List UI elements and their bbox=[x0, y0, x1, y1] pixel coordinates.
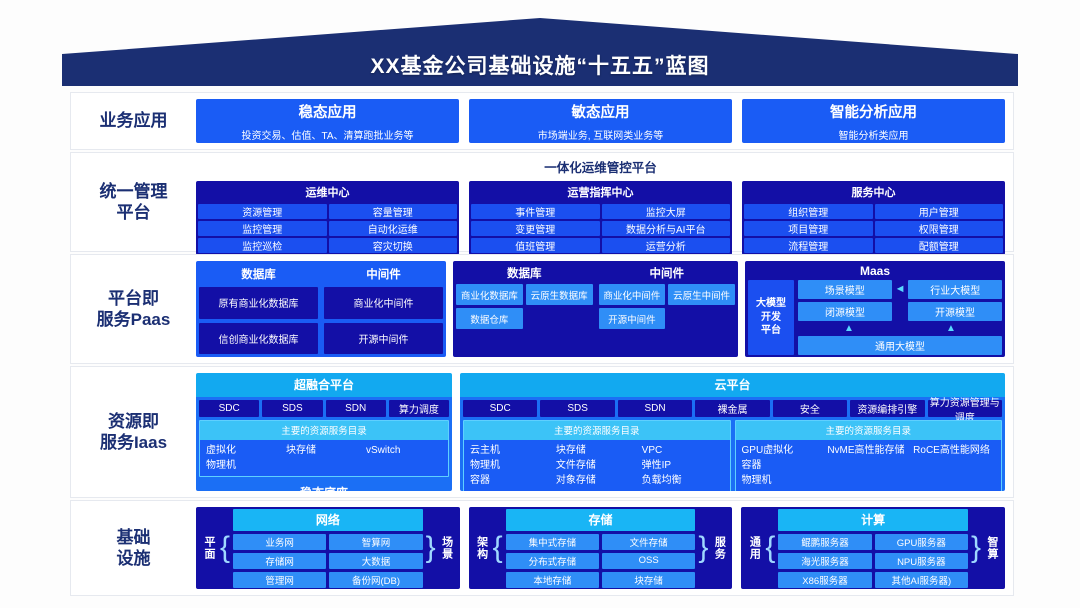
paas-database-group: 数据库 商业化数据库 云原生数据库 数据仓库 bbox=[456, 264, 593, 354]
infra-item[interactable]: 文件存储 bbox=[602, 534, 695, 550]
infra-storage-block: 架构 { 存储 集中式存储 文件存储 分布式存储 OSS 本地存储 块存储 } … bbox=[469, 507, 733, 589]
row-label-unified-management: 统一管理 平台 bbox=[71, 153, 196, 251]
catalog-item: 虚拟化 bbox=[206, 444, 282, 457]
center-item[interactable]: 变更管理 bbox=[471, 221, 600, 236]
infra-item[interactable]: NPU服务器 bbox=[875, 553, 968, 569]
cloud-platform-tags: SDC SDS SDN 裸金属 安全 资源编排引擎 算力资源管理与调度 bbox=[460, 397, 1005, 420]
up-arrow-icon: ▲ bbox=[798, 324, 900, 333]
infra-item[interactable]: 备份网(DB) bbox=[329, 572, 422, 588]
left-arrow-icon: ◄ bbox=[895, 284, 906, 295]
catalog-body: 虚拟化 物理机 块存储 vSwitch bbox=[200, 440, 448, 476]
catalog-header: 主要的资源服务目录 bbox=[200, 421, 448, 440]
paas-item[interactable]: 商业化数据库 bbox=[456, 284, 523, 305]
infra-item[interactable]: 集中式存储 bbox=[506, 534, 599, 550]
catalog-item: VPC bbox=[642, 444, 724, 457]
center-items: 事件管理 监控大屏 变更管理 数据分析与AI平台 值班管理 运营分析 bbox=[471, 204, 730, 253]
maas-title: Maas bbox=[748, 264, 1002, 278]
row-body-unified-management: 一体化运维管控平台 运维中心 资源管理 容量管理 监控管理 自动化运维 监控巡检… bbox=[196, 153, 1013, 251]
infra-items: 业务网 智算网 存储网 大数据 管理网 备份网(DB) bbox=[233, 534, 423, 588]
iaas-tag[interactable]: SDS bbox=[540, 400, 614, 417]
center-title: 运维中心 bbox=[198, 183, 457, 202]
center-item[interactable]: 资源管理 bbox=[198, 204, 327, 219]
catalog-item: 块存储 bbox=[556, 444, 638, 457]
center-item[interactable]: 项目管理 bbox=[744, 221, 873, 236]
catalog-item: 对象存储 bbox=[556, 474, 638, 487]
iaas-tag[interactable]: 算力调度 bbox=[389, 400, 449, 417]
center-items: 资源管理 容量管理 监控管理 自动化运维 监控巡检 容灾切换 bbox=[198, 204, 457, 253]
infra-left-label: 平面 bbox=[201, 536, 217, 560]
maas-body: 大模型 开发 平台 场景模型 ◄ 行业大模型 闭源模型 开源模型 bbox=[748, 280, 1002, 355]
management-centers: 运维中心 资源管理 容量管理 监控管理 自动化运维 监控巡检 容灾切换 运营指挥… bbox=[196, 181, 1005, 255]
paas-item[interactable]: 开源中间件 bbox=[599, 308, 666, 329]
cloud-platform-catalogs: 主要的资源服务目录 云主机 物理机 容器 块存储 文件存储 对象存储 bbox=[460, 420, 1005, 491]
catalog-item: 云主机 bbox=[470, 444, 552, 457]
maas-row-scenario: 场景模型 ◄ 行业大模型 bbox=[798, 280, 1002, 299]
row-body-paas: 数据库 原有商业化数据库 信创商业化数据库 中间件 商业化中间件 开源中间件 数… bbox=[196, 255, 1013, 363]
center-item[interactable]: 流程管理 bbox=[744, 238, 873, 253]
page-title: XX基金公司基础设施“十五五”蓝图 bbox=[0, 50, 1080, 80]
app-card-intelligent-analytics[interactable]: 智能分析应用 智能分析类应用 bbox=[742, 99, 1005, 143]
integrated-ops-platform-title: 一体化运维管控平台 bbox=[196, 156, 1005, 178]
catalog-item: 文件存储 bbox=[556, 459, 638, 472]
maas-item[interactable]: 闭源模型 bbox=[798, 302, 892, 321]
paas-item[interactable]: 商业化中间件 bbox=[324, 287, 443, 319]
maas-row-source: 闭源模型 开源模型 bbox=[798, 302, 1002, 321]
hyperconverged-platform-block: 超融合平台 SDC SDS SDN 算力调度 主要的资源服务目录 虚拟化 物理机 bbox=[196, 373, 452, 491]
row-body-iaas: 超融合平台 SDC SDS SDN 算力调度 主要的资源服务目录 虚拟化 物理机 bbox=[196, 367, 1013, 497]
paas-column-title: 数据库 bbox=[199, 264, 318, 283]
hyperconverged-header: 超融合平台 bbox=[196, 373, 452, 397]
app-card-subtitle: 投资交易、估值、TA、清算跑批业务等 bbox=[241, 127, 413, 142]
cloud-platform-block: 云平台 SDC SDS SDN 裸金属 安全 资源编排引擎 算力资源管理与调度 … bbox=[460, 373, 1005, 491]
infra-header: 计算 bbox=[778, 509, 968, 531]
center-item[interactable]: 数据分析与AI平台 bbox=[602, 221, 731, 236]
infra-items: 鲲鹏服务器 GPU服务器 海光服务器 NPU服务器 X86服务器 其他AI服务器… bbox=[778, 534, 968, 588]
iaas-tag[interactable]: 资源编排引擎 bbox=[850, 400, 924, 417]
iaas-tag[interactable]: 算力资源管理与调度 bbox=[928, 400, 1002, 417]
infra-items: 集中式存储 文件存储 分布式存储 OSS 本地存储 块存储 bbox=[506, 534, 696, 588]
infra-item[interactable]: GPU服务器 bbox=[875, 534, 968, 550]
app-card-subtitle: 智能分析类应用 bbox=[839, 127, 909, 142]
paas-cloudnative-block: 数据库 商业化数据库 云原生数据库 数据仓库 中间件 商业化中间件 云原生中间件… bbox=[453, 261, 738, 357]
maas-base-model[interactable]: 通用大模型 bbox=[798, 336, 1002, 355]
catalog-body: 云主机 物理机 容器 块存储 文件存储 对象存储 VPC bbox=[464, 440, 730, 491]
catalog-column: NvME高性能存储 bbox=[827, 444, 909, 487]
row-body-business-applications: 稳态应用 投资交易、估值、TA、清算跑批业务等 敏态应用 市场端业务, 互联网类… bbox=[196, 93, 1013, 149]
infra-left-label: 架构 bbox=[474, 536, 490, 560]
catalog-column: VPC 弹性IP 负载均衡 bbox=[642, 444, 724, 487]
left-brace-icon: { bbox=[492, 533, 504, 563]
infra-item[interactable]: 业务网 bbox=[233, 534, 326, 550]
catalog-item: 块存储 bbox=[286, 444, 362, 457]
paas-legacy-block: 数据库 原有商业化数据库 信创商业化数据库 中间件 商业化中间件 开源中间件 bbox=[196, 261, 446, 357]
paas-item[interactable]: 原有商业化数据库 bbox=[199, 287, 318, 319]
paas-middleware-column: 中间件 商业化中间件 开源中间件 bbox=[324, 264, 443, 354]
infra-item[interactable]: 大数据 bbox=[329, 553, 422, 569]
row-infrastructure: 基础 设施 平面 { 网络 业务网 智算网 存储网 大数据 管理网 备份网(DB… bbox=[70, 500, 1014, 596]
paas-item[interactable]: 开源中间件 bbox=[324, 323, 443, 355]
app-card-title: 稳态应用 bbox=[299, 101, 357, 122]
center-item[interactable]: 容灾切换 bbox=[329, 238, 458, 253]
catalog-item: 物理机 bbox=[742, 474, 824, 487]
iaas-tag[interactable]: 安全 bbox=[773, 400, 847, 417]
paas-group-title: 中间件 bbox=[599, 264, 736, 281]
maas-model-grid: 场景模型 ◄ 行业大模型 闭源模型 开源模型 ▲ ▲ bbox=[798, 280, 1002, 355]
infra-item[interactable]: 其他AI服务器) bbox=[875, 572, 968, 588]
infra-item[interactable]: OSS bbox=[602, 553, 695, 569]
catalog-column: GPU虚拟化 容器 物理机 bbox=[742, 444, 824, 487]
right-brace-icon: } bbox=[425, 533, 437, 563]
center-ops[interactable]: 运维中心 资源管理 容量管理 监控管理 自动化运维 监控巡检 容灾切换 bbox=[196, 181, 459, 255]
catalog-item: 物理机 bbox=[206, 459, 282, 472]
infra-item[interactable]: 本地存储 bbox=[506, 572, 599, 588]
hyperconverged-catalogs: 主要的资源服务目录 虚拟化 物理机 块存储 vSwitch bbox=[196, 420, 452, 480]
catalog-item: vSwitch bbox=[366, 444, 442, 457]
blueprint-diagram: XX基金公司基础设施“十五五”蓝图 业务应用 稳态应用 投资交易、估值、TA、清… bbox=[0, 0, 1080, 608]
row-unified-management: 统一管理 平台 一体化运维管控平台 运维中心 资源管理 容量管理 监控管理 自动… bbox=[70, 152, 1014, 252]
maas-up-arrows: ▲ ▲ bbox=[798, 324, 1002, 333]
cloud-platform-header: 云平台 bbox=[460, 373, 1005, 397]
catalog-header: 主要的资源服务目录 bbox=[736, 421, 1002, 440]
row-body-infrastructure: 平面 { 网络 业务网 智算网 存储网 大数据 管理网 备份网(DB) } 场景 bbox=[196, 501, 1013, 595]
app-card-stable[interactable]: 稳态应用 投资交易、估值、TA、清算跑批业务等 bbox=[196, 99, 459, 143]
left-brace-icon: { bbox=[219, 533, 231, 563]
maas-item[interactable]: 场景模型 bbox=[798, 280, 892, 299]
center-title: 服务中心 bbox=[744, 183, 1003, 202]
ai-resource-service-catalog: 主要的资源服务目录 GPU虚拟化 容器 物理机 NvME高性能存储 bbox=[735, 420, 1003, 491]
hyperconverged-tags: SDC SDS SDN 算力调度 bbox=[196, 397, 452, 420]
resource-service-catalog: 主要的资源服务目录 虚拟化 物理机 块存储 vSwitch bbox=[199, 420, 449, 477]
infra-item[interactable]: 鲲鹏服务器 bbox=[778, 534, 871, 550]
row-label-infrastructure: 基础 设施 bbox=[71, 501, 196, 595]
paas-item[interactable]: 数据仓库 bbox=[456, 308, 523, 329]
maas-item[interactable]: 行业大模型 bbox=[908, 280, 1002, 299]
app-card-subtitle: 市场端业务, 互联网类业务等 bbox=[538, 127, 664, 142]
catalog-column: 云主机 物理机 容器 bbox=[470, 444, 552, 487]
infra-header: 存储 bbox=[506, 509, 696, 531]
center-operations-command[interactable]: 运营指挥中心 事件管理 监控大屏 变更管理 数据分析与AI平台 值班管理 运营分… bbox=[469, 181, 732, 255]
infra-item[interactable]: 分布式存储 bbox=[506, 553, 599, 569]
center-item[interactable]: 监控大屏 bbox=[602, 204, 731, 219]
infra-right-label: 智算 bbox=[984, 536, 1000, 560]
paas-item[interactable]: 云原生中间件 bbox=[668, 284, 735, 305]
right-brace-icon: } bbox=[697, 533, 709, 563]
paas-item[interactable]: 商业化中间件 bbox=[599, 284, 666, 305]
catalog-column: vSwitch bbox=[366, 444, 442, 472]
row-label-paas: 平台即 服务Paas bbox=[71, 255, 196, 363]
catalog-item: 弹性IP bbox=[642, 459, 724, 472]
row-business-applications: 业务应用 稳态应用 投资交易、估值、TA、清算跑批业务等 敏态应用 市场端业务,… bbox=[70, 92, 1014, 150]
catalog-item: 物理机 bbox=[470, 459, 552, 472]
center-item[interactable]: 运营分析 bbox=[602, 238, 731, 253]
center-service[interactable]: 服务中心 组织管理 用户管理 项目管理 权限管理 流程管理 配额管理 bbox=[742, 181, 1005, 255]
maas-item[interactable]: 开源模型 bbox=[908, 302, 1002, 321]
row-paas: 平台即 服务Paas 数据库 原有商业化数据库 信创商业化数据库 中间件 商业化… bbox=[70, 254, 1014, 364]
center-item[interactable]: 容量管理 bbox=[329, 204, 458, 219]
center-item[interactable]: 用户管理 bbox=[875, 204, 1004, 219]
stable-foundation-footer: 稳态底座 bbox=[196, 480, 452, 491]
catalog-item: RoCE高性能网络 bbox=[913, 444, 995, 457]
maas-block: Maas 大模型 开发 平台 场景模型 ◄ 行业大模型 闭源模型 开源模型 bbox=[745, 261, 1005, 357]
catalog-column: RoCE高性能网络 bbox=[913, 444, 995, 487]
infra-item[interactable]: 智算网 bbox=[329, 534, 422, 550]
catalog-item: NvME高性能存储 bbox=[827, 444, 909, 457]
catalog-item: 容器 bbox=[742, 459, 824, 472]
row-label-business-applications: 业务应用 bbox=[71, 93, 196, 149]
up-arrow-icon: ▲ bbox=[900, 324, 1002, 333]
infra-network-main: 网络 业务网 智算网 存储网 大数据 管理网 备份网(DB) bbox=[233, 509, 423, 588]
infra-compute-main: 计算 鲲鹏服务器 GPU服务器 海光服务器 NPU服务器 X86服务器 其他AI… bbox=[778, 509, 968, 588]
center-title: 运营指挥中心 bbox=[471, 183, 730, 202]
paas-column-title: 中间件 bbox=[324, 264, 443, 283]
infra-item[interactable]: 块存储 bbox=[602, 572, 695, 588]
infra-right-label: 服务 bbox=[711, 536, 727, 560]
iaas-tag[interactable]: SDS bbox=[262, 400, 322, 417]
center-items: 组织管理 用户管理 项目管理 权限管理 流程管理 配额管理 bbox=[744, 204, 1003, 253]
infra-item[interactable]: 管理网 bbox=[233, 572, 326, 588]
center-item[interactable]: 值班管理 bbox=[471, 238, 600, 253]
infra-right-label: 场景 bbox=[439, 536, 455, 560]
paas-item[interactable]: 信创商业化数据库 bbox=[199, 323, 318, 355]
infra-left-label: 通用 bbox=[746, 536, 762, 560]
center-item[interactable]: 组织管理 bbox=[744, 204, 873, 219]
infra-header: 网络 bbox=[233, 509, 423, 531]
center-item[interactable]: 事件管理 bbox=[471, 204, 600, 219]
iaas-tag[interactable]: 裸金属 bbox=[695, 400, 769, 417]
center-item[interactable]: 自动化运维 bbox=[329, 221, 458, 236]
paas-item[interactable]: 云原生数据库 bbox=[526, 284, 593, 305]
iaas-tag[interactable]: SDN bbox=[326, 400, 386, 417]
iaas-tag[interactable]: SDC bbox=[463, 400, 537, 417]
infra-item[interactable]: 存储网 bbox=[233, 553, 326, 569]
app-card-title: 智能分析应用 bbox=[830, 101, 917, 122]
infra-storage-main: 存储 集中式存储 文件存储 分布式存储 OSS 本地存储 块存储 bbox=[506, 509, 696, 588]
app-card-agile[interactable]: 敏态应用 市场端业务, 互联网类业务等 bbox=[469, 99, 732, 143]
paas-middleware-group: 中间件 商业化中间件 云原生中间件 开源中间件 bbox=[599, 264, 736, 354]
paas-group-title: 数据库 bbox=[456, 264, 593, 281]
right-brace-icon: } bbox=[970, 533, 982, 563]
infra-item[interactable]: 海光服务器 bbox=[778, 553, 871, 569]
title-banner: XX基金公司基础设施“十五五”蓝图 bbox=[0, 18, 1080, 86]
catalog-item: 容器 bbox=[470, 474, 552, 487]
catalog-header: 主要的资源服务目录 bbox=[464, 421, 730, 440]
catalog-column: 块存储 文件存储 对象存储 bbox=[556, 444, 638, 487]
app-card-title: 敏态应用 bbox=[572, 101, 630, 122]
catalog-item: GPU虚拟化 bbox=[742, 444, 824, 457]
center-item[interactable]: 监控管理 bbox=[198, 221, 327, 236]
center-item[interactable]: 配额管理 bbox=[875, 238, 1004, 253]
paas-group-items: 商业化中间件 云原生中间件 开源中间件 bbox=[599, 284, 736, 354]
infra-compute-block: 通用 { 计算 鲲鹏服务器 GPU服务器 海光服务器 NPU服务器 X86服务器… bbox=[741, 507, 1005, 589]
iaas-tag[interactable]: SDN bbox=[618, 400, 692, 417]
center-item[interactable]: 权限管理 bbox=[875, 221, 1004, 236]
resource-service-catalog: 主要的资源服务目录 云主机 物理机 容器 块存储 文件存储 对象存储 bbox=[463, 420, 731, 491]
llm-dev-platform-panel[interactable]: 大模型 开发 平台 bbox=[748, 280, 794, 355]
row-label-iaas: 资源即 服务Iaas bbox=[71, 367, 196, 497]
catalog-column: 块存储 bbox=[286, 444, 362, 472]
paas-database-column: 数据库 原有商业化数据库 信创商业化数据库 bbox=[199, 264, 318, 354]
left-brace-icon: { bbox=[764, 533, 776, 563]
iaas-tag[interactable]: SDC bbox=[199, 400, 259, 417]
catalog-column: 虚拟化 物理机 bbox=[206, 444, 282, 472]
catalog-item: 负载均衡 bbox=[642, 474, 724, 487]
center-item[interactable]: 监控巡检 bbox=[198, 238, 327, 253]
row-iaas: 资源即 服务Iaas 超融合平台 SDC SDS SDN 算力调度 主要的资源服… bbox=[70, 366, 1014, 498]
infra-network-block: 平面 { 网络 业务网 智算网 存储网 大数据 管理网 备份网(DB) } 场景 bbox=[196, 507, 460, 589]
catalog-body: GPU虚拟化 容器 物理机 NvME高性能存储 RoCE高性能网络 bbox=[736, 440, 1002, 491]
paas-group-items: 商业化数据库 云原生数据库 数据仓库 bbox=[456, 284, 593, 354]
infra-item[interactable]: X86服务器 bbox=[778, 572, 871, 588]
